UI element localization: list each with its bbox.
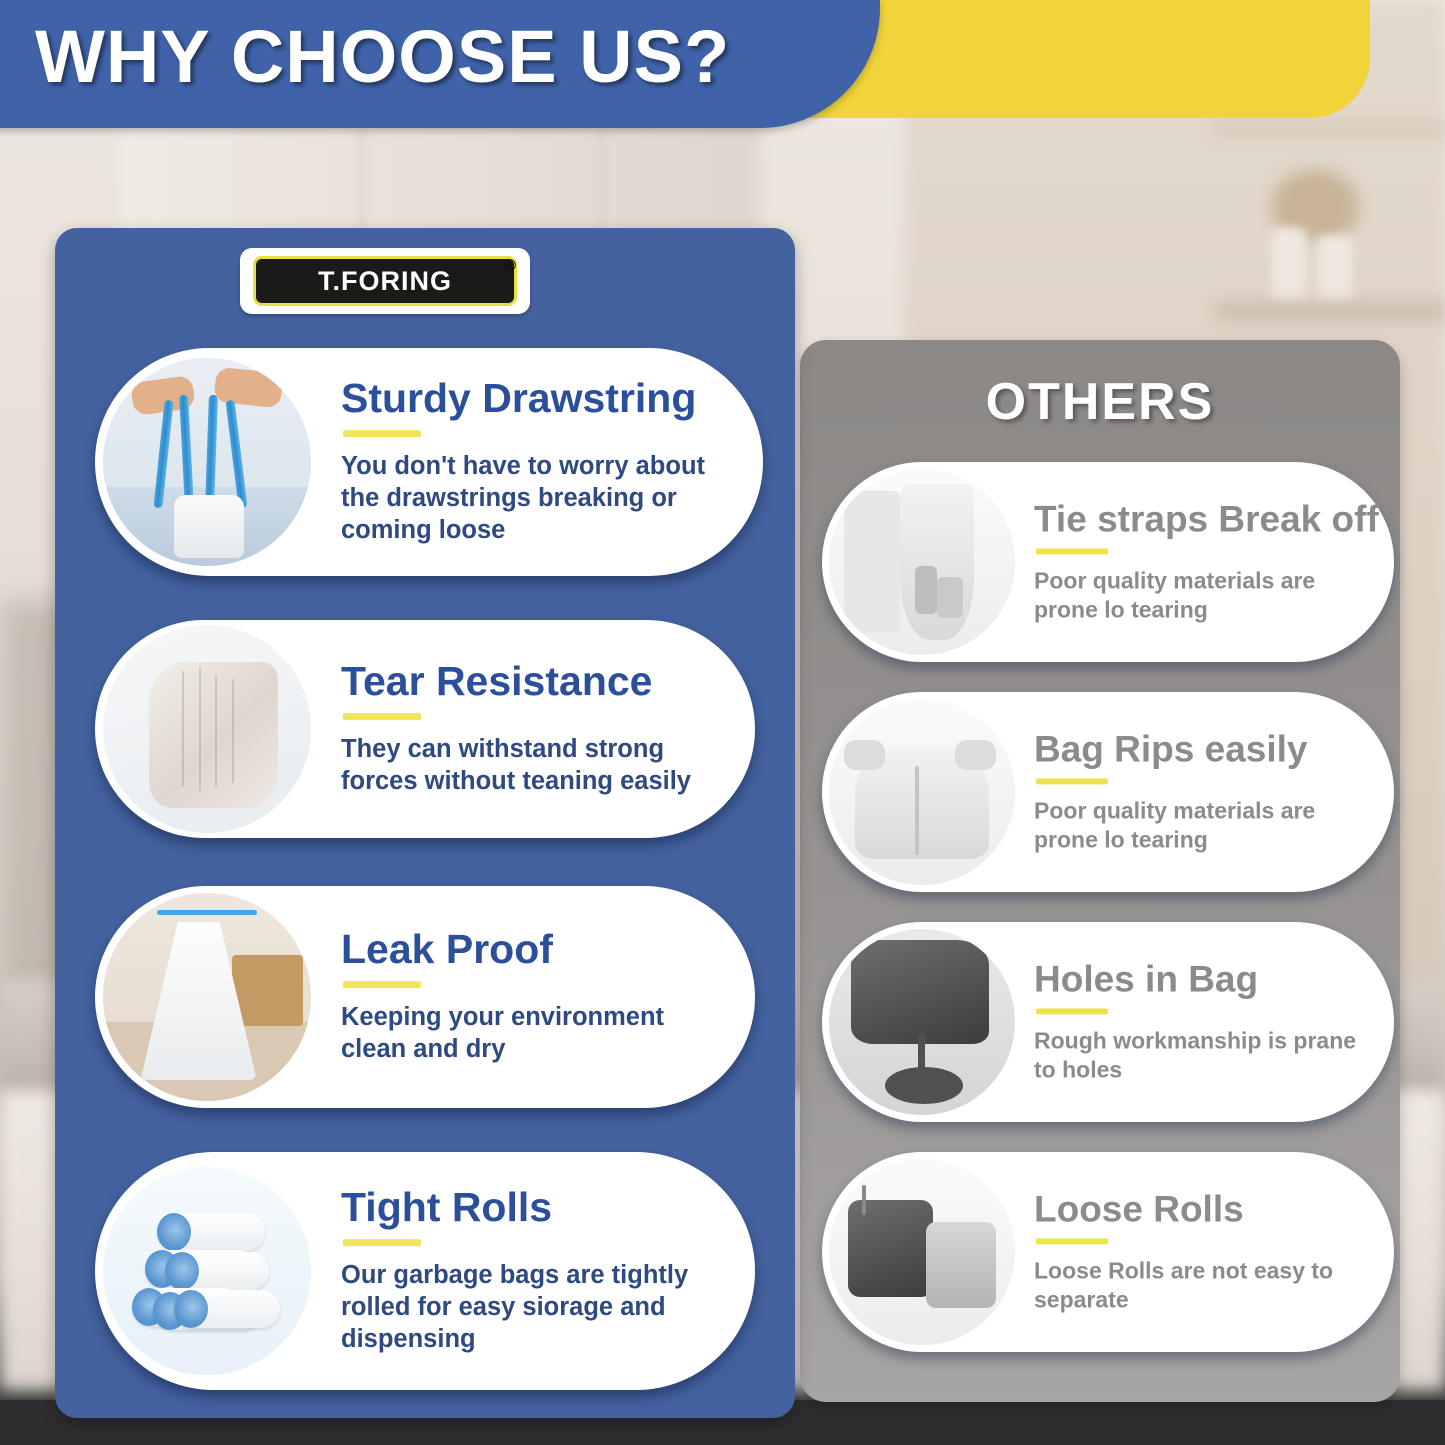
background-jar bbox=[1272, 228, 1306, 304]
trademark-symbol: ® bbox=[503, 256, 516, 276]
background-shelf bbox=[1215, 300, 1445, 322]
drawback-card-tie-straps-break-off[interactable]: Tie straps Break off Poor quality materi… bbox=[822, 462, 1394, 662]
feature-body: They can withstand strong forces without… bbox=[341, 734, 729, 798]
drawback-title: Loose Rolls bbox=[1034, 1190, 1374, 1229]
feature-image-tight-rolls bbox=[103, 1167, 311, 1375]
drawback-body: Rough workmanship is prane to holes bbox=[1034, 1026, 1374, 1084]
brand-logo: T.FORING ® bbox=[240, 248, 530, 314]
drawback-card-holes-in-bag[interactable]: Holes in Bag Rough workmanship is prane … bbox=[822, 922, 1394, 1122]
title-underline bbox=[343, 981, 421, 988]
feature-card-tear-resistance[interactable]: Tear Resistance They can withstand stron… bbox=[95, 620, 755, 838]
drawback-image-tie-straps bbox=[829, 469, 1015, 655]
title-underline bbox=[1036, 1238, 1108, 1244]
feature-title: Sturdy Drawstring bbox=[341, 377, 737, 420]
feature-body: You don't have to worry about the drawst… bbox=[341, 451, 737, 547]
infographic-canvas: WHY CHOOSE US? OTHERS T.FORING ® bbox=[0, 0, 1445, 1445]
drawback-image-loose-rolls bbox=[829, 1159, 1015, 1345]
drawback-text-tie-straps: Tie straps Break off Poor quality materi… bbox=[1034, 500, 1374, 623]
title-underline bbox=[343, 430, 421, 437]
drawback-body: Loose Rolls are not easy to separate bbox=[1034, 1256, 1374, 1314]
feature-title: Tight Rolls bbox=[341, 1186, 729, 1229]
page-title: WHY CHOOSE US? bbox=[35, 14, 730, 99]
feature-card-sturdy-drawstring[interactable]: Sturdy Drawstring You don't have to worr… bbox=[95, 348, 763, 576]
drawback-text-holes-in-bag: Holes in Bag Rough workmanship is prane … bbox=[1034, 960, 1374, 1083]
title-underline bbox=[1036, 1008, 1108, 1014]
drawback-image-bag-rips bbox=[829, 699, 1015, 885]
feature-card-tight-rolls[interactable]: Tight Rolls Our garbage bags are tightly… bbox=[95, 1152, 755, 1390]
drawback-card-loose-rolls[interactable]: Loose Rolls Loose Rolls are not easy to … bbox=[822, 1152, 1394, 1352]
feature-body: Our garbage bags are tightly rolled for … bbox=[341, 1260, 729, 1356]
drawback-image-holes-in-bag bbox=[829, 929, 1015, 1115]
title-underline bbox=[343, 1239, 421, 1246]
header-banner: WHY CHOOSE US? bbox=[0, 0, 880, 128]
drawback-card-bag-rips-easily[interactable]: Bag Rips easily Poor quality materials a… bbox=[822, 692, 1394, 892]
brand-logo-text: T.FORING bbox=[318, 266, 452, 297]
feature-text-tight-rolls: Tight Rolls Our garbage bags are tightly… bbox=[341, 1186, 729, 1356]
feature-body: Keeping your environment clean and dry bbox=[341, 1002, 729, 1066]
background-shelf bbox=[1215, 120, 1445, 138]
feature-image-leak-proof bbox=[103, 893, 311, 1101]
drawback-text-bag-rips: Bag Rips easily Poor quality materials a… bbox=[1034, 730, 1374, 853]
feature-title: Leak Proof bbox=[341, 928, 729, 971]
background-jar bbox=[1318, 236, 1352, 304]
drawback-title: Tie straps Break off bbox=[1034, 500, 1374, 539]
feature-text-leak-proof: Leak Proof Keeping your environment clea… bbox=[341, 928, 729, 1066]
drawback-body: Poor quality materials are prone lo tear… bbox=[1034, 566, 1374, 624]
drawback-text-loose-rolls: Loose Rolls Loose Rolls are not easy to … bbox=[1034, 1190, 1374, 1313]
brand-logo-plate: T.FORING bbox=[253, 256, 517, 306]
drawback-title: Holes in Bag bbox=[1034, 960, 1374, 999]
drawback-title: Bag Rips easily bbox=[1034, 730, 1374, 769]
feature-title: Tear Resistance bbox=[341, 660, 729, 703]
feature-image-sturdy-drawstring bbox=[103, 358, 311, 566]
others-panel-title: OTHERS bbox=[800, 372, 1400, 432]
title-underline bbox=[1036, 548, 1108, 554]
title-underline bbox=[1036, 778, 1108, 784]
title-underline bbox=[343, 713, 421, 720]
feature-card-leak-proof[interactable]: Leak Proof Keeping your environment clea… bbox=[95, 886, 755, 1108]
feature-text-tear-resistance: Tear Resistance They can withstand stron… bbox=[341, 660, 729, 798]
feature-text-sturdy-drawstring: Sturdy Drawstring You don't have to worr… bbox=[341, 377, 737, 547]
feature-image-tear-resistance bbox=[103, 625, 311, 833]
drawback-body: Poor quality materials are prone lo tear… bbox=[1034, 796, 1374, 854]
